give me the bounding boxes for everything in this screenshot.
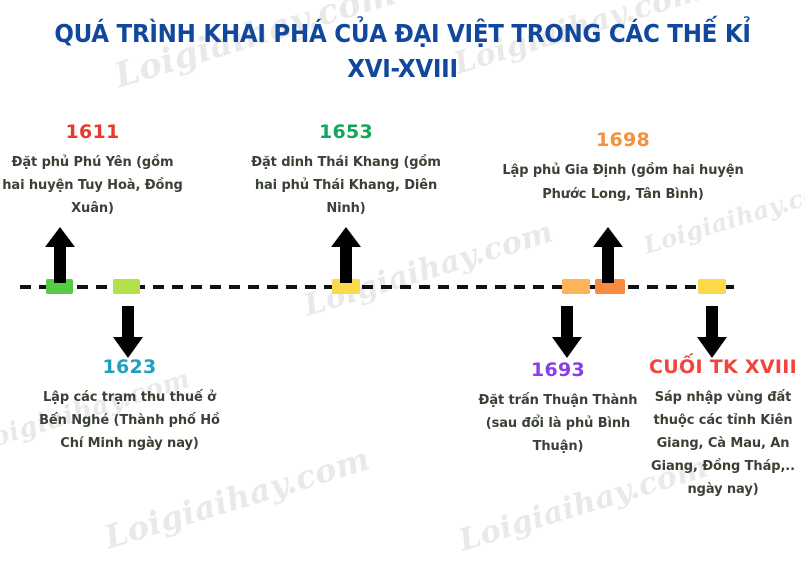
entry-year-cuoi-tk-xviii: CUỐI TK XVIII (648, 355, 798, 380)
entry-description-1611: Đặt phủ Phú Yên (gồm hai huyện Tuy Hoà, … (0, 151, 185, 220)
entry-1693[interactable]: 1693 Đặt trấn Thuận Thành (sau đổi là ph… (474, 358, 642, 458)
arrow-down-cuoi-tk-xviii (696, 306, 728, 358)
entry-year-1623: 1623 (37, 355, 222, 380)
entry-description-1693: Đặt trấn Thuận Thành (sau đổi là phủ Bìn… (474, 389, 642, 458)
entry-description-cuoi-tk-xviii: Sáp nhập vùng đất thuộc các tỉnh Kiên Gi… (648, 386, 798, 501)
entry-1653[interactable]: 1653 Đặt dinh Thái Khang (gồm hai phủ Th… (248, 120, 444, 220)
arrow-up-1611 (44, 227, 76, 283)
entry-description-1698: Lập phủ Gia Định (gồm hai huyện Phước Lo… (494, 159, 752, 207)
entry-1698[interactable]: 1698 Lập phủ Gia Định (gồm hai huyện Phư… (494, 128, 752, 207)
entry-description-1653: Đặt dinh Thái Khang (gồm hai phủ Thái Kh… (248, 151, 444, 220)
watermark-text: Loigiaihay.com (100, 440, 374, 557)
entry-description-1623: Lập các trạm thu thuế ở Bến Nghé (Thành … (37, 386, 222, 455)
entry-1611[interactable]: 1611 Đặt phủ Phú Yên (gồm hai huyện Tuy … (0, 120, 185, 220)
title-line-2: XVI-XVIII (32, 51, 773, 86)
entry-cuoi-tk-xviii[interactable]: CUỐI TK XVIII Sáp nhập vùng đất thuộc cá… (648, 355, 798, 501)
marker-1693[interactable] (562, 279, 590, 294)
marker-1623[interactable] (113, 279, 140, 294)
entry-1623[interactable]: 1623 Lập các trạm thu thuế ở Bến Nghé (T… (37, 355, 222, 455)
page-title: QUÁ TRÌNH KHAI PHÁ CỦA ĐẠI VIỆT TRONG CÁ… (0, 16, 805, 86)
entry-year-1611: 1611 (0, 120, 185, 145)
arrow-down-1623 (112, 306, 144, 358)
arrow-up-1698 (592, 227, 624, 283)
marker-cuoi-tk-xviii[interactable] (698, 279, 726, 294)
arrow-up-1653 (330, 227, 362, 283)
timeline-infographic: Loigiaihay.com Loigiaihay.com Loigiaihay… (0, 0, 805, 573)
entry-year-1653: 1653 (248, 120, 444, 145)
arrow-down-1693 (551, 306, 583, 358)
entry-year-1693: 1693 (474, 358, 642, 383)
entry-year-1698: 1698 (494, 128, 752, 153)
title-line-1: QUÁ TRÌNH KHAI PHÁ CỦA ĐẠI VIỆT TRONG CÁ… (32, 16, 773, 51)
